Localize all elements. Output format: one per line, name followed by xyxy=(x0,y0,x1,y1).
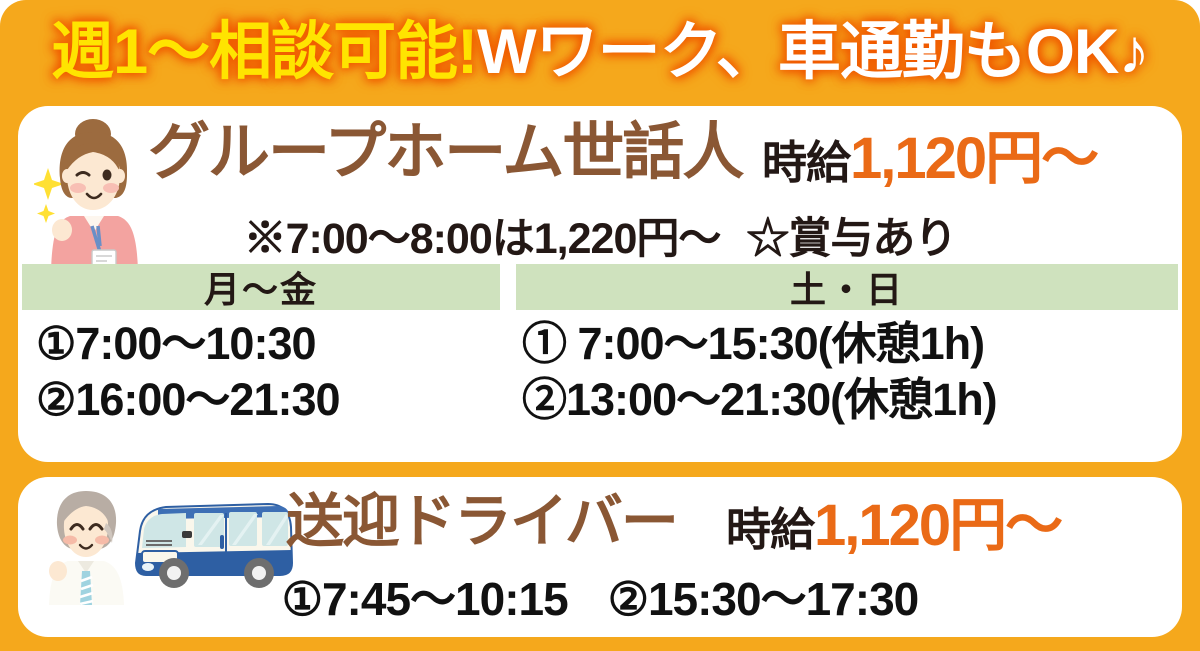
driver-job-title: 送迎ドライバー xyxy=(286,493,677,551)
schedule-column-weekend: 土・日 ① 7:00〜15:30(休憩1h) ②13:00〜21:30(休憩1h… xyxy=(516,264,1178,428)
driver-wage-amount: 1,120円〜 xyxy=(814,493,1061,558)
headline-white-text: Wワーク、車通勤もOK♪ xyxy=(477,21,1149,84)
driver-job-card: 送迎ドライバー 時給1,120円〜 ①7:45〜10:15②15:30〜17:3… xyxy=(18,477,1182,637)
caregiver-job-title: グループホーム世話人 xyxy=(148,122,742,184)
caregiver-bonus-note: ☆賞与あり xyxy=(746,215,956,263)
shift-item: ① 7:00〜15:30(休憩1h) xyxy=(516,316,1178,372)
headline-yellow-text: 週1〜相談可能! xyxy=(51,21,477,84)
caregiver-wage-amount: 1,120円〜 xyxy=(850,126,1097,191)
caregiver-note-row: ※7:00〜8:00は1,220円〜☆賞与あり xyxy=(18,204,1182,266)
headline-banner: 週1〜相談可能!Wワーク、車通勤もOK♪ xyxy=(0,0,1200,104)
caregiver-note-main: ※7:00〜8:00は1,220円〜 xyxy=(244,215,721,263)
schedule-column-weekday: 月〜金 ①7:00〜10:30 ②16:00〜21:30 xyxy=(18,264,516,428)
caregiver-title-row: グループホーム世話人 時給1,120円〜 xyxy=(18,106,1182,202)
shift-item: ②13:00〜21:30(休憩1h) xyxy=(516,372,1178,428)
caregiver-job-card: グループホーム世話人 時給1,120円〜 ※7:00〜8:00は1,220円〜☆… xyxy=(18,106,1182,462)
job-advertisement-poster: 週1〜相談可能!Wワーク、車通勤もOK♪ xyxy=(0,0,1200,651)
caregiver-wage-label: 時給 xyxy=(762,137,850,188)
driver-shift-2: ②15:30〜17:30 xyxy=(608,573,919,625)
caregiver-wage: 時給1,120円〜 xyxy=(762,130,1097,188)
driver-shift-row: ①7:45〜10:15②15:30〜17:30 xyxy=(18,563,1182,629)
driver-shift-1: ①7:45〜10:15 xyxy=(282,573,568,625)
driver-wage: 時給1,120円〜 xyxy=(726,497,1061,555)
caregiver-schedule: 月〜金 ①7:00〜10:30 ②16:00〜21:30 土・日 ① 7:00〜… xyxy=(18,264,1182,428)
shift-list-weekday: ①7:00〜10:30 ②16:00〜21:30 xyxy=(22,316,516,428)
shift-item: ①7:00〜10:30 xyxy=(22,316,516,372)
shift-item: ②16:00〜21:30 xyxy=(22,372,516,428)
driver-wage-label: 時給 xyxy=(726,504,814,555)
day-label-weekend: 土・日 xyxy=(516,264,1178,310)
shift-list-weekend: ① 7:00〜15:30(休憩1h) ②13:00〜21:30(休憩1h) xyxy=(516,316,1178,428)
day-label-weekday: 月〜金 xyxy=(22,264,500,310)
